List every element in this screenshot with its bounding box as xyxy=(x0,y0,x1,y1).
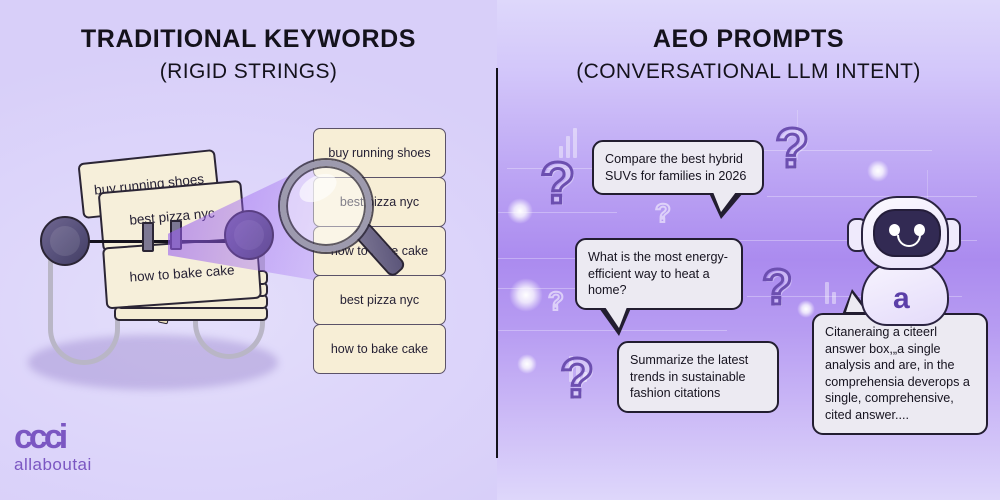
glow-dot xyxy=(867,160,889,182)
right-title-block: AEO PROMPTS (CONVERSATIONAL LLM INTENT) xyxy=(497,27,1000,82)
brand-name: allaboutai xyxy=(14,456,164,473)
answer-bubble[interactable]: Citaneraing a citeerl answer box,„a sing… xyxy=(812,313,988,435)
list-item[interactable]: how to bake cake xyxy=(313,324,446,374)
robot-visor xyxy=(873,209,941,257)
right-title: AEO PROMPTS xyxy=(497,27,1000,52)
prompt-bubble[interactable]: What is the most energy-efficient way to… xyxy=(575,238,743,310)
glow-dot xyxy=(797,300,815,318)
magnifier-lens xyxy=(280,160,372,252)
magnifying-glass-icon xyxy=(280,160,400,280)
rolodex-knob-left[interactable] xyxy=(40,216,90,266)
question-mark-icon: ? xyxy=(655,200,671,226)
question-mark-icon: ? xyxy=(775,120,809,176)
traditional-keywords-panel: TRADITIONAL KEYWORDS (RIGID STRINGS) xyxy=(0,0,497,500)
glow-dot xyxy=(507,198,533,224)
magnifier-glare xyxy=(295,168,342,208)
prompt-bubble-text: Summarize the latest trends in sustainab… xyxy=(630,353,748,400)
bar-chart-decor xyxy=(825,282,836,304)
question-mark-icon: ? xyxy=(540,155,575,213)
keyword-label: how to bake cake xyxy=(331,342,428,356)
keyword-label: best pizza nyc xyxy=(340,293,419,307)
infographic-canvas: TRADITIONAL KEYWORDS (RIGID STRINGS) xyxy=(0,0,1000,500)
left-subtitle: (RIGID STRINGS) xyxy=(0,61,497,82)
robot-logo-letter: a xyxy=(893,284,910,314)
rolodex-clip xyxy=(142,222,154,252)
robot-mascot-icon: a xyxy=(845,190,963,315)
glow-dot xyxy=(509,278,543,312)
robot-head xyxy=(861,196,949,270)
brand-logo[interactable]: ccci allaboutai xyxy=(14,420,164,473)
question-mark-icon: ? xyxy=(560,350,594,406)
left-title: TRADITIONAL KEYWORDS xyxy=(0,27,497,52)
prompt-bubble[interactable]: Summarize the latest trends in sustainab… xyxy=(617,341,779,413)
keyword-label: buy running shoes xyxy=(328,146,430,160)
bubble-tail xyxy=(599,308,631,336)
glow-dot xyxy=(517,354,537,374)
bubble-tail xyxy=(709,193,743,219)
list-item[interactable]: best pizza nyc xyxy=(313,275,446,325)
prompt-bubble-text: Compare the best hybrid SUVs for familie… xyxy=(605,152,746,183)
robot-smile xyxy=(897,235,921,247)
brand-mark: ccci xyxy=(14,420,164,454)
panel-divider xyxy=(496,68,498,458)
prompt-bubble-text: What is the most energy-efficient way to… xyxy=(588,250,728,297)
question-mark-icon: ? xyxy=(548,288,564,314)
question-mark-icon: ? xyxy=(762,262,793,312)
left-title-block: TRADITIONAL KEYWORDS (RIGID STRINGS) xyxy=(0,27,497,82)
answer-bubble-text: Citaneraing a citeerl answer box,„a sing… xyxy=(825,325,970,422)
right-subtitle: (CONVERSATIONAL LLM INTENT) xyxy=(497,61,1000,82)
prompt-bubble[interactable]: Compare the best hybrid SUVs for familie… xyxy=(592,140,764,195)
rolodex-card-label: how to bake cake xyxy=(129,262,235,284)
